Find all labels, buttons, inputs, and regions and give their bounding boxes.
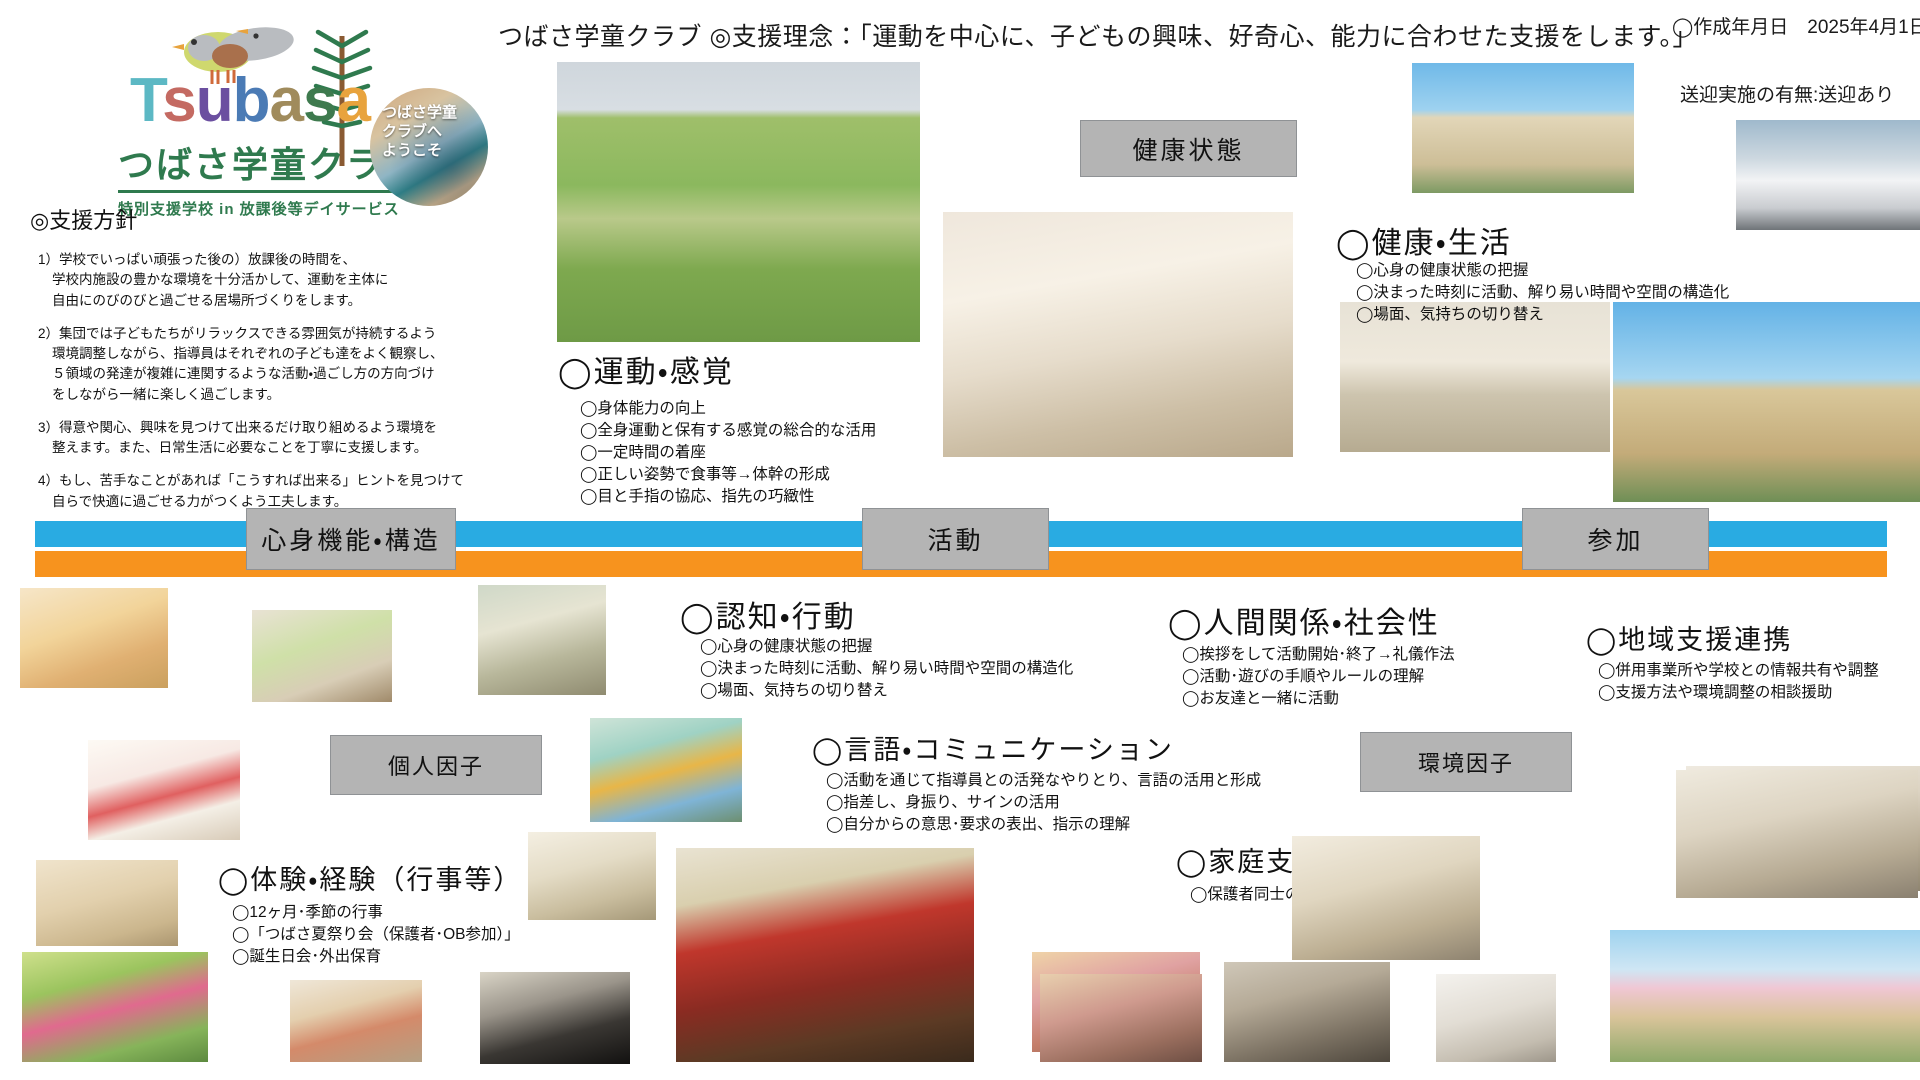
photo-toilet-training — [1436, 974, 1556, 1062]
photo-welcome-circle: つばさ学童 クラブへ ようこそ — [370, 88, 488, 206]
logo-letter-6: a — [336, 66, 369, 135]
policy-item-4-line-1: 4）もし、苦手なことがあれば「こうすれば出来る」ヒントを見つけて — [38, 471, 468, 491]
chip-health-state: 健康状態 — [1080, 120, 1297, 177]
policy-item-2-line-3: ５領域の発達が複雑に連関するような活動・過ごし方の方向づけ — [38, 364, 468, 384]
cognition-bullet-3: ◯場面、気持ちの切り替え — [700, 680, 1073, 702]
photo-school-building-2 — [1613, 302, 1920, 502]
created-date-label: ◯作成年月日 2025年4月1日 — [1672, 12, 1920, 39]
photo-water-play — [590, 718, 742, 822]
photo-rice-bowls — [528, 832, 656, 920]
section-movement-title: ◯運動・感覚 — [558, 347, 734, 391]
policy-item-1: 1）学校でいっぱい頑張った後の）放課後の時間を、 学校内施設の豊かな環境を十分活… — [38, 250, 468, 311]
page-title: つばさ学童クラブ ◎支援理念：「運動を中心に、子どもの興味、好奇心、能力に合わせ… — [498, 17, 1698, 53]
chip-personal-factor-label: 個人因子 — [388, 749, 484, 781]
section-regional-title: ◯地域支援連携 — [1586, 618, 1792, 657]
section-cognition-bullets: ◯心身の健康状態の把握 ◯決まった時刻に活動、解り易い時間や空間の構造化 ◯場面… — [700, 636, 1073, 702]
health-bullet-3: ◯場面、気持ちの切り替え — [1356, 304, 1729, 326]
experience-bullet-1: ◯12ヶ月･季節の行事 — [232, 902, 520, 924]
policy-item-4: 4）もし、苦手なことがあれば「こうすれば出来る」ヒントを見つけて 自らで快適に過… — [38, 471, 468, 512]
logo-letter-3: b — [233, 66, 270, 135]
health-bullet-2: ◯決まった時刻に活動、解り易い時間や空間の構造化 — [1356, 282, 1729, 304]
photo-cooking-1 — [20, 588, 168, 688]
chip-environment-factor-label: 環境因子 — [1418, 746, 1514, 778]
social-bullet-3: ◯お友達と一緒に活動 — [1182, 688, 1455, 710]
section-movement-bullets: ◯身体能力の向上 ◯全身運動と保有する感覚の総合的な活用 ◯一定時間の着座 ◯正… — [580, 398, 876, 508]
logo-letter-2: u — [196, 66, 233, 135]
photo-tatami — [36, 860, 178, 946]
movement-bullet-2: ◯全身運動と保有する感覚の総合的な活用 — [580, 420, 876, 442]
chip-environment-factor: 環境因子 — [1360, 732, 1572, 792]
photo-sweets — [252, 610, 392, 702]
language-bullet-3: ◯自分からの意思･要求の表出、指示の理解 — [826, 814, 1261, 836]
section-cognition-title: ◯認知・行動 — [680, 592, 856, 636]
movement-bullet-1: ◯身体能力の向上 — [580, 398, 876, 420]
logo-letter-4: a — [270, 66, 303, 135]
photo-hallway-bags — [1224, 962, 1390, 1062]
chip-activity: 活動 — [862, 508, 1049, 570]
section-experience-bullets: ◯12ヶ月･季節の行事 ◯「つばさ夏祭り会（保護者･OB参加）」 ◯誕生日会･外… — [232, 902, 520, 968]
policy-list: 1）学校でいっぱい頑張った後の）放課後の時間を、 学校内施設の豊かな環境を十分活… — [38, 250, 468, 525]
policy-item-3-line-2: 整えます。また、日常生活に必要なことを丁寧に支援します。 — [38, 438, 468, 458]
section-health-bullets: ◯心身の健康状態の把握 ◯決まった時刻に活動、解り易い時間や空間の構造化 ◯場面… — [1356, 260, 1729, 326]
photo-strawberry-cake — [88, 740, 240, 840]
photo-art-activity — [480, 972, 630, 1064]
policy-item-2-line-4: をしながら一緒に楽しく過ごします。 — [38, 385, 468, 405]
photo-sakura-school — [1610, 930, 1920, 1062]
photo-classroom-music — [478, 585, 606, 695]
movement-bullet-5: ◯目と手指の協応、指先の巧緻性 — [580, 486, 876, 508]
policy-item-2: 2）集団では子どもたちがリラックスできる雰囲気が持続するよう 環境調整しながら、… — [38, 324, 468, 405]
photo-school-building-1 — [1412, 63, 1634, 193]
section-experience-title: ◯体験・経験（行事等） — [218, 858, 522, 897]
policy-item-1-line-1: 1）学校でいっぱい頑張った後の）放課後の時間を、 — [38, 250, 468, 270]
chip-participation-label: 参加 — [1587, 521, 1643, 557]
logo-letter-0: T — [130, 66, 162, 135]
policy-item-1-line-3: 自由にのびのびと過ごせる居場所づくりをします。 — [38, 291, 468, 311]
policy-item-1-line-2: 学校内施設の豊かな環境を十分活かして、運動を主体に — [38, 270, 468, 290]
social-bullet-2: ◯活動･遊びの手順やルールの理解 — [1182, 666, 1455, 688]
section-language-title: ◯言語・コミュニケーション — [812, 728, 1174, 767]
poster-root: つばさ学童クラブ ◎支援理念：「運動を中心に、子どもの興味、好奇心、能力に合わせ… — [0, 0, 1920, 1080]
section-health-title: ◯健康・生活 — [1336, 218, 1512, 262]
chip-activity-label: 活動 — [927, 521, 983, 557]
photo-playground — [557, 62, 920, 342]
movement-bullet-3: ◯一定時間の着座 — [580, 442, 876, 464]
experience-bullet-2: ◯「つばさ夏祭り会（保護者･OB参加）」 — [232, 924, 520, 946]
section-language-bullets: ◯活動を通じて指導員との活発なやりとり、言語の活用と形成 ◯指差し、身振り、サイ… — [826, 770, 1261, 836]
logo-letter-1: s — [162, 66, 195, 135]
photo-flowers — [22, 952, 208, 1062]
language-bullet-2: ◯指差し、身振り、サインの活用 — [826, 792, 1261, 814]
health-bullet-1: ◯心身の健康状態の把握 — [1356, 260, 1729, 282]
cognition-bullet-2: ◯決まった時刻に活動、解り易い時間や空間の構造化 — [700, 658, 1073, 680]
language-bullet-1: ◯活動を通じて指導員との活発なやりとり、言語の活用と形成 — [826, 770, 1261, 792]
policy-item-3: 3）得意や関心、興味を見つけて出来るだけ取り組めるよう環境を 整えます。また、日… — [38, 418, 468, 459]
transport-label: 送迎実施の有無:送迎あり — [1680, 80, 1894, 107]
chip-participation: 参加 — [1522, 508, 1709, 570]
section-social-bullets: ◯挨拶をして活動開始･終了→礼儀作法 ◯活動･遊びの手順やルールの理解 ◯お友達… — [1182, 644, 1455, 710]
photo-summer-festival — [676, 848, 974, 1062]
photo-welcome-caption: つばさ学童 クラブへ ようこそ — [382, 104, 457, 160]
logo-wordmark: Tsubasa — [130, 70, 370, 132]
regional-bullet-2: ◯支援方法や環境調整の相談援助 — [1598, 682, 1879, 704]
photo-party-food — [290, 980, 422, 1062]
social-bullet-1: ◯挨拶をして活動開始･終了→礼儀作法 — [1182, 644, 1455, 666]
section-regional-bullets: ◯併用事業所や学校との情報共有や調整 ◯支援方法や環境調整の相談援助 — [1598, 660, 1879, 704]
logo: Tsubasa つばさ学童クラブ 特別支援学校 in 放課後等デイサービス — [60, 18, 360, 178]
photo-group-photo-2 — [1040, 974, 1202, 1062]
experience-bullet-3: ◯誕生日会･外出保育 — [232, 946, 520, 968]
logo-subtitle: 特別支援学校 in 放課後等デイサービス — [118, 198, 422, 219]
photo-transport-van — [1736, 120, 1920, 230]
chip-health-state-label: 健康状態 — [1132, 131, 1244, 167]
photo-playroom-tables — [1292, 836, 1480, 960]
chip-body-function-label: 心身機能・構造 — [261, 521, 441, 557]
chip-body-function: 心身機能・構造 — [246, 508, 456, 570]
section-social-title: ◯人間関係・社会性 — [1168, 598, 1440, 642]
photo-dining-room — [1676, 770, 1918, 898]
policy-item-2-line-2: 環境調整しながら、指導員はそれぞれの子ども達をよく観察し、 — [38, 344, 468, 364]
policy-heading: ◎支援方針 — [30, 203, 137, 235]
movement-bullet-4: ◯正しい姿勢で食事等→体幹の形成 — [580, 464, 876, 486]
regional-bullet-1: ◯併用事業所や学校との情報共有や調整 — [1598, 660, 1879, 682]
cognition-bullet-1: ◯心身の健康状態の把握 — [700, 636, 1073, 658]
chip-personal-factor: 個人因子 — [330, 735, 542, 795]
photo-playroom — [943, 212, 1293, 457]
policy-item-2-line-1: 2）集団では子どもたちがリラックスできる雰囲気が持続するよう — [38, 324, 468, 344]
logo-letter-5: s — [303, 66, 336, 135]
policy-item-3-line-1: 3）得意や関心、興味を見つけて出来るだけ取り組めるよう環境を — [38, 418, 468, 438]
